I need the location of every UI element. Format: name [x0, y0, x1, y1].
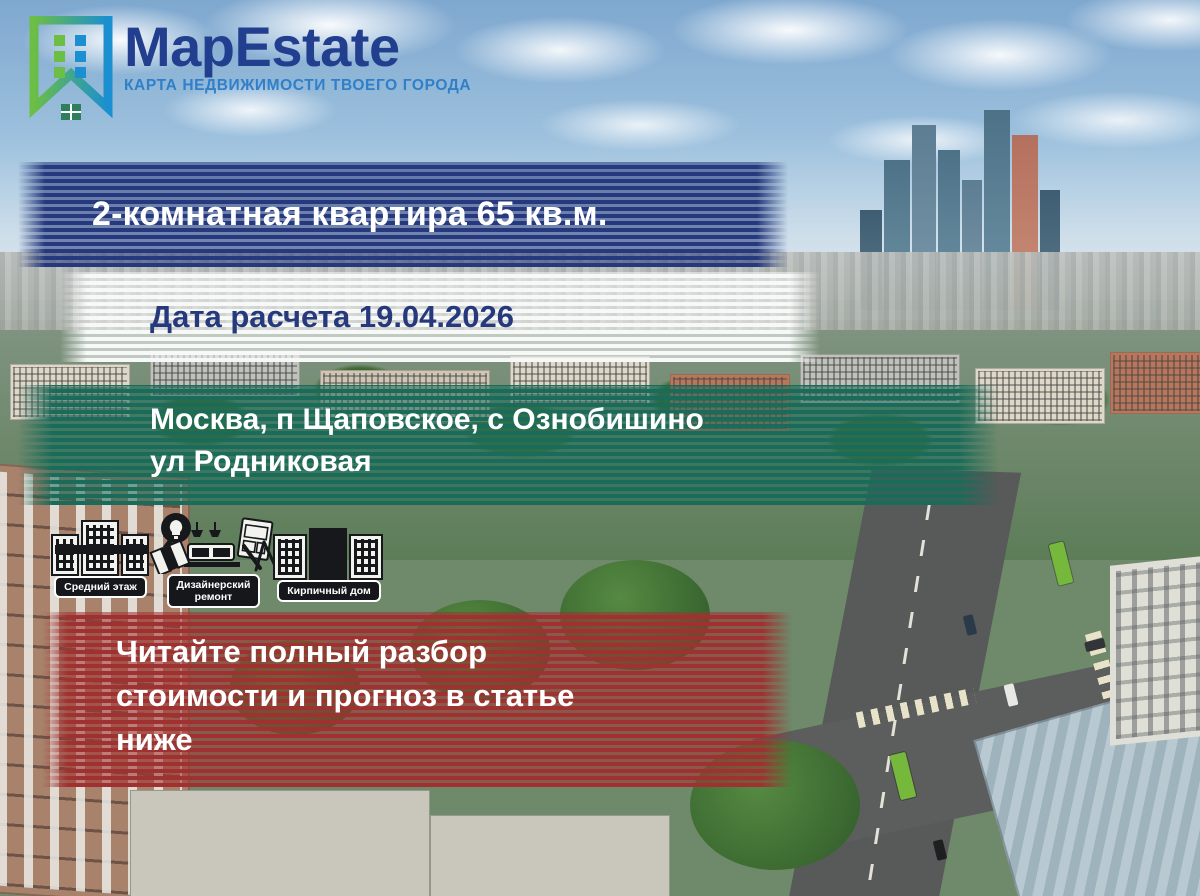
calculation-date-banner: Дата расчета 19.04.2026	[60, 272, 820, 362]
brand-wordmark: MapEstate	[124, 20, 471, 73]
design-renovation-icon	[148, 512, 280, 574]
address-text: Москва, п Щаповское, с Ознобишино ул Род…	[18, 385, 704, 483]
feature-badge-renovation: Дизайнерский ремонт	[146, 512, 281, 608]
feature-badges: Средний этаж	[48, 512, 388, 604]
feature-label-floor: Средний этаж	[54, 576, 147, 598]
feature-badge-brick: Кирпичный дом	[270, 524, 388, 602]
rooftop	[130, 790, 430, 896]
apartment-building-middle-floor-icon	[51, 520, 151, 576]
address-line-1: Москва, п Щаповское, с Ознобишино	[150, 399, 704, 441]
address-banner: Москва, п Щаповское, с Ознобишино ул Род…	[18, 385, 998, 505]
cta-line-2: стоимости и прогноз в статье	[116, 674, 574, 718]
feature-label-brick: Кирпичный дом	[277, 580, 381, 602]
bookmark-building-icon	[28, 16, 114, 121]
cta-banner: Читайте полный разбор стоимости и прогно…	[42, 612, 792, 787]
apartment-title-text: 2-комнатная квартира 65 кв.м.	[18, 195, 608, 234]
address-line-2: ул Родниковая	[150, 441, 704, 483]
brick-building-icon	[273, 524, 385, 580]
white-apartment-block	[1110, 554, 1200, 746]
cta-line-1: Читайте полный разбор	[116, 630, 574, 674]
cta-line-3: ниже	[116, 718, 574, 762]
feature-badge-floor: Средний этаж	[48, 520, 153, 598]
cta-text: Читайте полный разбор стоимости и прогно…	[42, 612, 574, 762]
brand-logo[interactable]: MapEstate КАРТА НЕДВИЖИМОСТИ ТВОЕГО ГОРО…	[28, 16, 471, 121]
apartment-title-banner: 2-комнатная квартира 65 кв.м.	[18, 162, 788, 267]
calculation-date-text: Дата расчета 19.04.2026	[60, 299, 514, 335]
feature-label-renovation: Дизайнерский ремонт	[167, 574, 261, 608]
rooftop	[430, 815, 670, 896]
brand-tagline: КАРТА НЕДВИЖИМОСТИ ТВОЕГО ГОРОДА	[124, 77, 471, 95]
